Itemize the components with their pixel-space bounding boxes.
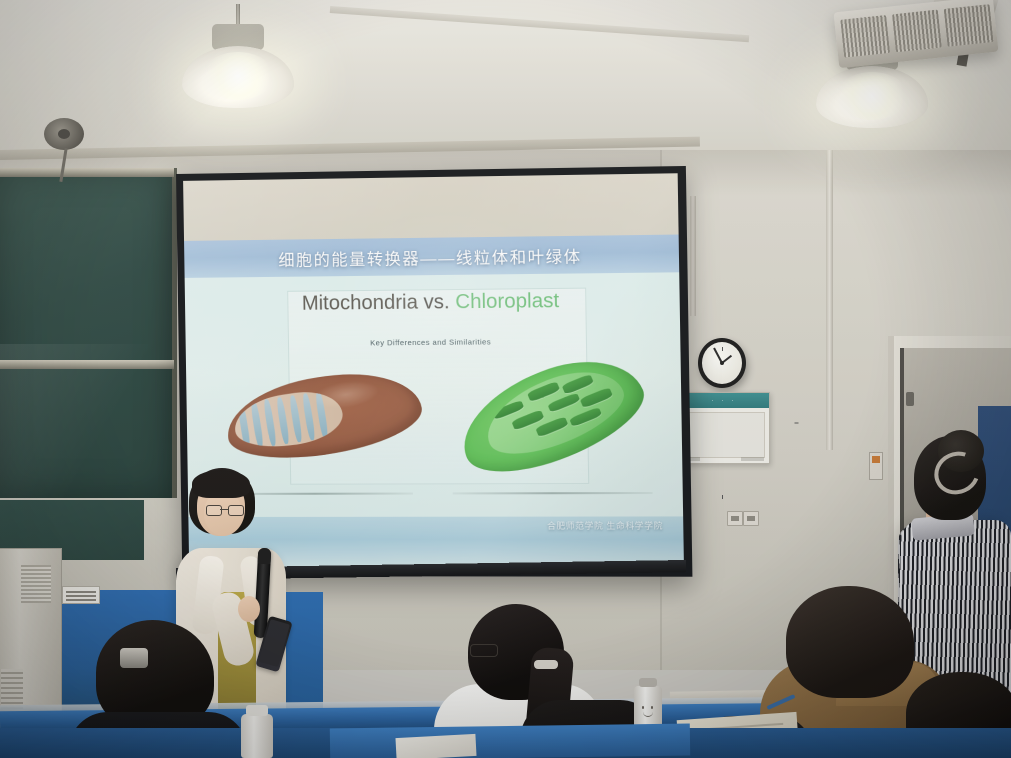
speaker-center — [58, 129, 70, 139]
pendant-light-left — [182, 4, 294, 114]
chalkboard-glare — [0, 344, 166, 520]
wall-clock — [698, 338, 746, 388]
light-glow — [836, 72, 908, 120]
notice-header-mark: · — [712, 398, 715, 404]
clock-tick — [722, 347, 723, 351]
desk-row-foreground — [330, 723, 690, 758]
bottle-cap — [639, 678, 657, 687]
mitochondrion-illustration — [221, 363, 427, 468]
organelle-illustrations — [186, 370, 683, 498]
water-bottle — [241, 714, 273, 758]
clock-tick — [794, 423, 798, 424]
projector-vent — [944, 4, 994, 47]
student-glasses — [470, 644, 498, 657]
granum — [579, 388, 612, 409]
student-hair — [786, 586, 914, 698]
granum — [569, 407, 602, 428]
microphone-head — [258, 548, 272, 565]
wall-speaker-icon — [44, 118, 84, 150]
bottle-cap — [246, 705, 268, 716]
wall-outlet — [727, 511, 743, 526]
chalk-rail-top — [0, 168, 174, 177]
clock-face — [702, 342, 742, 384]
notice-header-mark: · — [722, 398, 725, 404]
hair-clip-icon — [120, 648, 148, 668]
heading-vs: vs. — [418, 291, 456, 314]
crista — [250, 401, 264, 448]
light-glow — [202, 52, 274, 100]
light-switch[interactable] — [869, 452, 883, 480]
granum — [561, 374, 594, 395]
presenter-hand — [238, 596, 260, 622]
clock-pin — [720, 361, 724, 365]
crista — [263, 399, 277, 446]
crista — [276, 397, 290, 444]
slide-body: Mitochondria vs. Chloroplast Key Differe… — [185, 272, 684, 517]
crista — [289, 395, 303, 443]
cabinet-label — [62, 586, 100, 604]
slide-title: 细胞的能量转换器——线粒体和叶绿体 — [278, 243, 582, 271]
notice-board-header: · · · — [677, 393, 769, 408]
slide-surface: 细胞的能量转换器——线粒体和叶绿体 Mitochondria vs. Chlor… — [183, 173, 684, 567]
chalk-rail-middle — [0, 360, 174, 369]
classroom-photo: · · · 细胞的能量转换器——线粒体和叶绿体 Mitochondria vs.… — [0, 0, 1011, 758]
cabinet-slots — [1, 669, 23, 709]
slide-footer-text: 合肥师范学院 生命科学学院 — [547, 519, 663, 531]
wall-conduit-secondary — [690, 196, 696, 316]
projector-vent — [892, 10, 942, 53]
paper-sheet — [395, 734, 476, 758]
chloroplast-underline — [453, 492, 653, 494]
wall-outlet — [743, 511, 759, 526]
notice-header-mark: · — [732, 398, 735, 404]
chloroplast-stroma — [475, 356, 633, 469]
granum — [527, 382, 560, 403]
heading-chloroplast: Chloroplast — [455, 290, 559, 313]
wall-conduit — [826, 150, 833, 450]
crista — [237, 403, 251, 450]
clock-tick — [722, 495, 723, 499]
presenter-glasses — [206, 505, 242, 514]
notice-board-footer — [682, 457, 764, 461]
presenter-fringe — [192, 470, 250, 498]
granum — [547, 393, 580, 414]
projector-vent — [840, 15, 890, 58]
cabinet-vent — [21, 565, 51, 603]
equipment-cabinet — [0, 548, 62, 720]
glasses-bridge — [220, 509, 228, 510]
glasses-lens-right — [228, 505, 244, 516]
glasses-lens-left — [206, 505, 222, 516]
chalkboard — [0, 168, 177, 498]
hair-tie — [534, 660, 558, 669]
slide-heading: Mitochondria vs. Chloroplast — [185, 289, 680, 317]
door-hinge — [906, 392, 914, 406]
heading-mitochondria: Mitochondria — [302, 292, 418, 315]
smiley-face-icon — [641, 706, 655, 716]
notice-board-body — [681, 412, 765, 458]
